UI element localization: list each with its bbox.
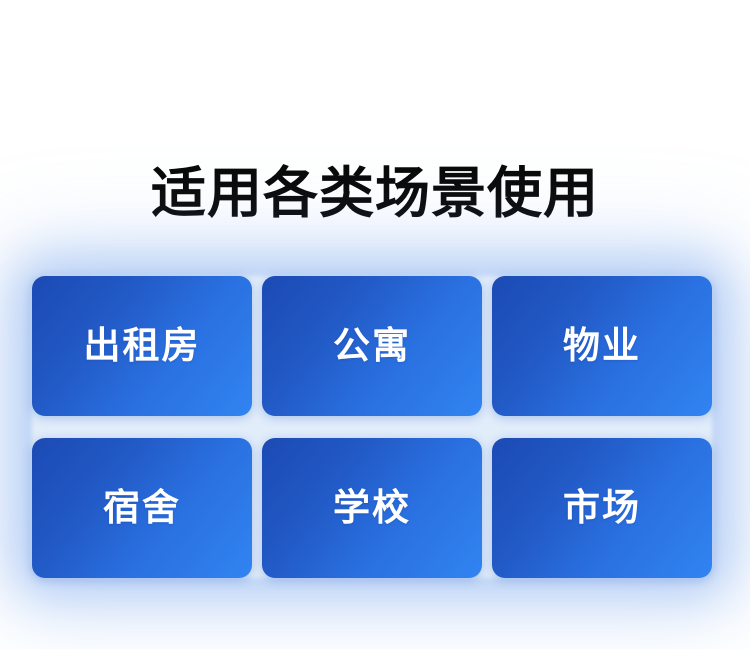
scene-card-label: 市场 [563, 486, 641, 530]
scene-card-label: 公寓 [333, 324, 411, 368]
scene-card-label: 物业 [563, 324, 641, 368]
scene-card-property-management[interactable]: 物业 [492, 276, 712, 416]
scene-card-dormitory[interactable]: 宿舍 [32, 438, 252, 578]
scene-card-apartment[interactable]: 公寓 [262, 276, 482, 416]
page-title: 适用各类场景使用 [151, 158, 599, 228]
scene-card-label: 出租房 [84, 324, 201, 368]
scene-card-rental-house[interactable]: 出租房 [32, 276, 252, 416]
scene-card-label: 宿舍 [103, 486, 181, 530]
scene-card-label: 学校 [333, 486, 411, 530]
scene-card-market[interactable]: 市场 [492, 438, 712, 578]
scene-showcase-page: 适用各类场景使用 出租房 公寓 物业 宿舍 学校 市场 [0, 0, 750, 649]
scene-card-grid: 出租房 公寓 物业 宿舍 学校 市场 [32, 276, 712, 578]
scene-card-school[interactable]: 学校 [262, 438, 482, 578]
page-title-container: 适用各类场景使用 [0, 121, 750, 265]
